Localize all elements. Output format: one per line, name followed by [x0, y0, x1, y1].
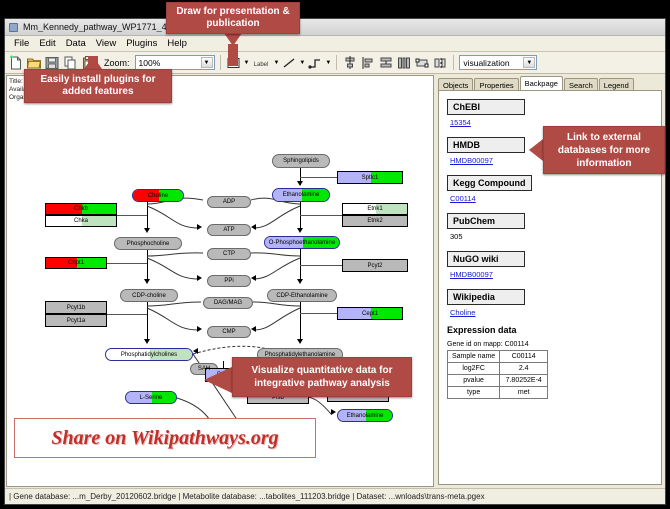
gene-node-chkb[interactable]: Chkb [45, 203, 117, 215]
menu-item-edit[interactable]: Edit [34, 37, 60, 50]
edge-pcyt1 [107, 314, 147, 315]
db-header-pubchem: PubChem [447, 213, 525, 229]
metabolite-node-atp[interactable]: ATP [207, 224, 251, 236]
edge-sptlc1 [300, 177, 342, 178]
line-chevron-icon[interactable]: ▼ [299, 60, 305, 66]
arrowhead-pc-in [193, 348, 198, 354]
expression-data-title: Expression data [447, 325, 661, 335]
db-value-nugo-wiki[interactable]: HMDB00097 [450, 270, 661, 279]
node-label: CDP-choline [132, 293, 166, 299]
db-header-kegg-compound: Kegg Compound [447, 175, 532, 191]
table-row: pvalue7.80252E-4 [448, 375, 548, 387]
metabolite-node-choline-top[interactable]: Choline [132, 189, 184, 202]
gene-node-pcyt1b[interactable]: Pcyt1b [45, 301, 107, 314]
node-label: Chkb [74, 206, 88, 212]
callout-draw-pointer [224, 33, 242, 46]
gene-node-sptlc1[interactable]: Sptlc1 [337, 171, 403, 184]
table-row: log2FC2.4 [448, 363, 548, 375]
node-label: Cept1 [362, 311, 378, 317]
gene-node-chpt1[interactable]: Chpt1 [45, 257, 107, 269]
expression-value: C00114 [500, 351, 548, 363]
gene-node-pcyt1a[interactable]: Pcyt1a [45, 314, 107, 327]
edge-pcyt2 [300, 265, 345, 266]
node-label: Sptlc1 [362, 175, 379, 181]
metabolite-node-ethanolamine-right[interactable]: Ethanolamine [337, 409, 393, 422]
db-value-wikipedia[interactable]: Choline [450, 308, 661, 317]
arrowhead [297, 339, 303, 344]
metabolite-node-l-serine-left[interactable]: L-Serine [125, 391, 177, 404]
callout-share: Share on Wikipathways.org [14, 418, 316, 458]
edge-chk [117, 215, 147, 216]
arrowhead-cmp-r [251, 326, 256, 332]
label-chevron-icon[interactable]: ▼ [273, 60, 279, 66]
status-bar: | Gene database: ...m_Derby_20120602.bri… [5, 488, 665, 504]
gene-node-etnk2[interactable]: Etnk2 [342, 215, 408, 227]
metabolite-node-ppi[interactable]: PPi [207, 275, 251, 287]
expression-key: pvalue [448, 375, 500, 387]
db-header-nugo-wiki: NuGO wiki [447, 251, 525, 267]
expression-value: 7.80252E-4 [500, 375, 548, 387]
node-label: Phosphocholine [127, 241, 170, 247]
metabolite-node-ctp[interactable]: CTP [207, 248, 251, 260]
metabolite-node-cmp[interactable]: CMP [207, 326, 251, 338]
node-label: DAG/MAG [214, 300, 242, 306]
expression-key: Sample name [448, 351, 500, 363]
arrowhead [144, 228, 150, 233]
gene-node-pcyt2[interactable]: Pcyt2 [342, 259, 408, 272]
menu-item-help[interactable]: Help [162, 37, 192, 50]
expression-key: type [448, 387, 500, 399]
toolbar-separator [220, 55, 221, 70]
title-bar: Mm_Kennedy_pathway_WP1771_45176.gpml [5, 19, 665, 36]
db-header-wikipedia: Wikipedia [447, 289, 525, 305]
metabolite-node-sphingolipids[interactable]: Sphingolipids [272, 154, 330, 168]
edge-phosphocholine-cdpcholine [147, 250, 148, 282]
node-label: Sphingolipids [283, 158, 319, 164]
label-icon[interactable]: Label [251, 55, 271, 71]
align-left-icon[interactable] [360, 55, 376, 71]
align-center-icon[interactable] [342, 55, 358, 71]
visualization-value: visualization [463, 58, 509, 68]
node-label: CTP [223, 251, 235, 257]
metabolite-node-cdp-choline[interactable]: CDP-choline [120, 289, 178, 302]
node-label: Etnk2 [367, 218, 382, 224]
edge-etnk [300, 215, 345, 216]
zoom-label: Zoom: [104, 58, 130, 68]
arrowhead-atp [197, 224, 202, 230]
arrowhead [144, 339, 150, 344]
visualization-combo[interactable]: visualization ▼ [459, 55, 537, 70]
arrowhead [297, 228, 303, 233]
gene-node-etnk1[interactable]: Etnk1 [342, 203, 408, 215]
node-label: Chka [74, 218, 88, 224]
node-label: Pcyt1b [67, 305, 85, 311]
menu-item-data[interactable]: Data [61, 37, 91, 50]
arrowhead [297, 279, 303, 284]
new-file-icon[interactable] [8, 55, 24, 71]
visualization-chevron-down-icon[interactable]: ▼ [523, 57, 535, 68]
gene-node-cept1[interactable]: Cept1 [337, 307, 403, 320]
app-icon [8, 22, 19, 33]
callout-draw: Draw for presentation & publication [166, 2, 300, 34]
node-label: CDP-Ethanolamine [276, 293, 327, 299]
line-icon[interactable] [281, 55, 297, 71]
chevron-down-icon[interactable]: ▼ [201, 57, 213, 68]
menu-bar: File Edit Data View Plugins Help [5, 36, 665, 52]
metabolite-node-cdp-ethanolamine[interactable]: CDP-Ethanolamine [267, 289, 337, 302]
arrowhead-etn-right [331, 409, 336, 415]
node-label: PPi [224, 278, 233, 284]
expression-value: met [500, 387, 548, 399]
callout-visualize: Visualize quantitative data for integrat… [232, 357, 412, 397]
node-label: O-Phosphoethanolamine [269, 240, 335, 246]
distribute-icon[interactable] [396, 55, 412, 71]
group-icon[interactable] [414, 55, 430, 71]
arrowhead [144, 279, 150, 284]
db-value-kegg-compound[interactable]: C00114 [450, 194, 661, 203]
edge-cept1 [300, 313, 340, 314]
edge-etn-pe [300, 202, 301, 231]
callout-draw-stem [228, 44, 238, 66]
node-label: Ethanolamine [347, 413, 384, 419]
tab-backpage[interactable]: Backpage [520, 76, 563, 90]
db-header-chebi: ChEBI [447, 99, 525, 115]
node-label: Pcyt1a [67, 318, 85, 324]
node-label: ADP [223, 199, 235, 205]
callout-link-pointer [529, 139, 543, 161]
arrowhead-ppi [197, 275, 202, 281]
menu-item-view[interactable]: View [91, 37, 121, 50]
node-label: Pcyt2 [367, 263, 382, 269]
menu-item-file[interactable]: File [9, 37, 34, 50]
node-label: Ethanolamine [283, 192, 320, 198]
node-label: Phosphatidylcholines [121, 352, 177, 358]
edge-chpt1 [107, 263, 147, 264]
node-label: L-Serine [140, 395, 163, 401]
expression-data-table: Sample nameC00114log2FC2.4pvalue7.80252E… [447, 350, 548, 399]
connector-chevron-icon[interactable]: ▼ [325, 60, 331, 66]
table-row: typemet [448, 387, 548, 399]
db-header-hmdb: HMDB [447, 137, 525, 153]
metabolite-node-adp[interactable]: ADP [207, 196, 251, 208]
node-label: Etnk1 [367, 206, 382, 212]
arrowhead-ppi-r [251, 275, 256, 281]
gene-id-line: Gene id on mapp: C00114 [447, 341, 661, 348]
table-row: Sample nameC00114 [448, 351, 548, 363]
db-value-pubchem: 305 [450, 232, 661, 241]
side-panel-tabs: ObjectsPropertiesBackpageSearchLegend [435, 75, 664, 90]
gene-node-chka[interactable]: Chka [45, 215, 117, 227]
expression-value: 2.4 [500, 363, 548, 375]
metabolite-node-dag-mag[interactable]: DAG/MAG [203, 297, 253, 309]
callout-link: Link to external databases for more info… [543, 126, 665, 174]
edge-choline-phosphocholine [147, 202, 148, 231]
ungroup-icon[interactable] [432, 55, 448, 71]
toolbar-separator-3 [453, 55, 454, 70]
menu-item-plugins[interactable]: Plugins [121, 37, 162, 50]
node-label: Chpt1 [68, 260, 84, 266]
node-label: ATP [223, 227, 234, 233]
stack-icon[interactable] [378, 55, 394, 71]
expression-key: log2FC [448, 363, 500, 375]
toolbar-separator-2 [336, 55, 337, 70]
callout-visualize-pointer [204, 366, 234, 394]
callout-plugins-pointer [84, 56, 102, 69]
callout-plugins: Easily install plugins for added feature… [24, 69, 172, 103]
node-label: CMP [222, 329, 235, 335]
share-text: Share on Wikipathways.org [51, 427, 278, 450]
status-text: | Gene database: ...m_Derby_20120602.bri… [9, 492, 485, 501]
zoom-value: 100% [139, 58, 161, 68]
datanode-chevron-icon[interactable]: ▼ [244, 60, 250, 66]
metabolite-node-phosphatidylcholines[interactable]: Phosphatidylcholines [105, 348, 193, 361]
node-label: Choline [148, 193, 168, 199]
svg-text:Label: Label [254, 62, 269, 68]
metabolite-node-phosphocholine[interactable]: Phosphocholine [114, 237, 182, 250]
edge-cdpcholine-pc [147, 302, 148, 342]
arrowhead-atp-r [251, 224, 256, 230]
metabolite-node-ethanolamine-top[interactable]: Ethanolamine [272, 188, 330, 202]
zoom-combo[interactable]: 100% ▼ [135, 55, 215, 70]
metabolite-node-o-phosphoethanolamine[interactable]: O-Phosphoethanolamine [264, 236, 340, 249]
arrowhead [297, 181, 303, 186]
edge-cdpetn-ptdetn [300, 302, 301, 342]
arrowhead-cmp [197, 326, 202, 332]
connector-icon[interactable] [307, 55, 323, 71]
